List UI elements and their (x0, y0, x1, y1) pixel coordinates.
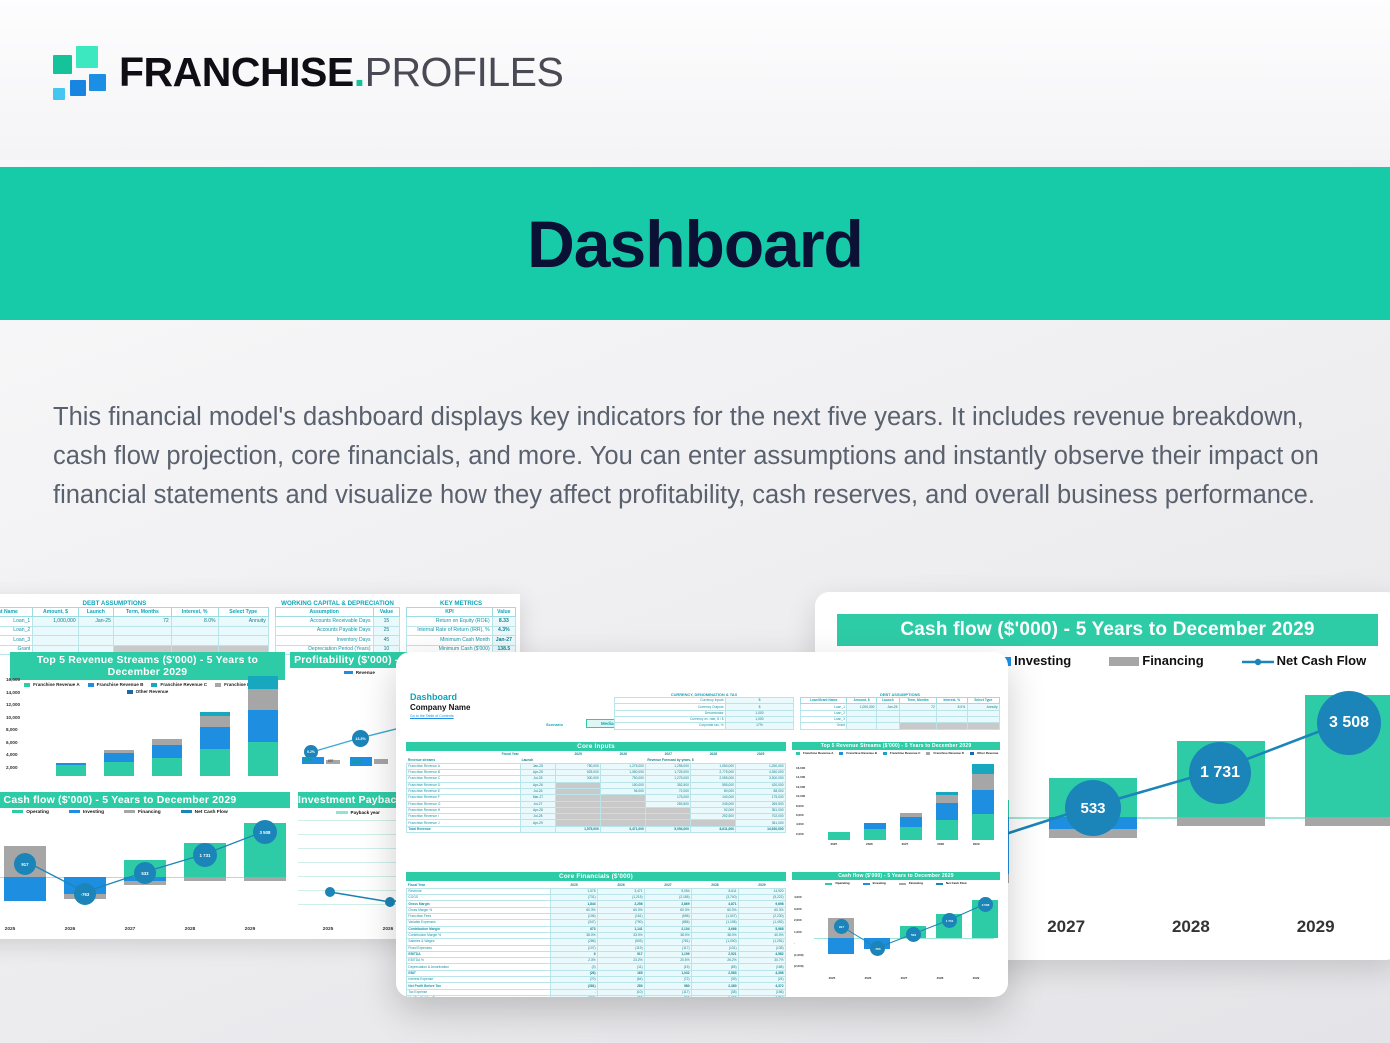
left-cashflow-plot: 917 -763 533 1 731 3 508 (0, 814, 280, 922)
company-name: Company Name (410, 703, 470, 712)
bubble-2028: 1 731 (1189, 742, 1251, 804)
debt-assumptions-table[interactable]: DEBT ASSUMPTIONS Loan/Grant NameAmount, … (0, 600, 269, 655)
working-capital-table[interactable]: WORKING CAPITAL & DEPRECIATION Assumptio… (275, 600, 400, 655)
working-capital-title: WORKING CAPITAL & DEPRECIATION (275, 600, 400, 607)
table-row: Accounts Receivable Days15 (275, 617, 399, 626)
legend-financing: Financing (1109, 653, 1203, 668)
key-metrics-title: KEY METRICS (406, 600, 516, 607)
center-cashflow-title: Cash flow ($'000) - 5 Years to December … (792, 872, 1000, 880)
right-cashflow-title: Cash flow ($'000) - 5 Years to December … (837, 614, 1378, 646)
debt-assumptions-title: DEBT ASSUMPTIONS (0, 600, 269, 607)
title-banner: Dashboard (0, 167, 1390, 320)
top5-yaxis: 16,00014,000 12,00010,000 8,0006,000 4,0… (6, 674, 20, 774)
center-cashflow-legend: Operating Investing Financing Net Cash F… (792, 881, 1000, 885)
page-header: FRANCHISE.PROFILES (0, 0, 1390, 160)
page-description: This financial model's dashboard display… (53, 398, 1338, 514)
center-top5-title: Top 5 Revenue Streams ($'000) - 5 Years … (792, 742, 1000, 750)
bubble-center-cf-2025: 917 (834, 919, 849, 934)
center-panel-header: Dashboard Company Name Go to the Table o… (410, 692, 470, 718)
left-cashflow-title: Cash flow ($'000) - 5 Years to December … (0, 792, 290, 808)
currency-table[interactable]: CURRENCY, DENOMINATION & TAX Currency In… (614, 692, 794, 730)
bubble-2027: 533 (1065, 780, 1121, 836)
bubble-center-cf-2029: 3 508 (978, 897, 993, 912)
table-row: Total Revenue1,575,0003,471,0005,054,000… (407, 826, 786, 832)
dashboard-floating-panel: Dashboard Company Name Go to the Table o… (396, 652, 1008, 997)
center-cashflow-plot: 917 -763 533 1 731 3 508 (814, 892, 994, 972)
center-cashflow-yaxis: 4,0003,000 2,0001,000 -(1,000) (2,000) (794, 892, 804, 973)
bubble-ebitda-pct-2026: 13.3% (352, 730, 369, 747)
bubble-cf-2026: -763 (74, 883, 96, 905)
brand-name-light: PROFILES (365, 49, 564, 95)
legend-net-cash-flow: Net Cash Flow (1242, 653, 1367, 668)
table-row: Net Profit After Tax(381)2598331,9593,71… (407, 996, 786, 998)
xlabel-2028: 2028 (1129, 917, 1254, 937)
toc-link[interactable]: Go to the Table of Contents (410, 714, 470, 718)
table-row: Corporate tax, %17% (615, 723, 794, 729)
center-top5-plot (816, 764, 994, 840)
brand-name-bold: FRANCHISE (119, 49, 354, 95)
center-panel-title: Dashboard (410, 692, 470, 702)
top5-plot (40, 674, 280, 776)
brand-name-dot: . (354, 49, 365, 95)
scenario-label: Scenario (546, 722, 563, 727)
core-financials-title: Core Financials ($'000) (406, 872, 786, 881)
bubble-cf-2025: 917 (14, 853, 36, 875)
table-row: Grant (801, 723, 1000, 729)
bubble-cf-2028: 1 731 (193, 843, 217, 867)
table-row: Loan_3 (0, 636, 268, 645)
table-row: Return on Equity (ROE)8.33 (407, 617, 516, 626)
table-row: Loan_2 (0, 626, 268, 635)
left-cashflow-xaxis: 2025 2026 2027 2028 2029 (0, 927, 280, 932)
center-top5-xaxis: 2025 2026 2027 2028 2029 (816, 842, 994, 846)
table-row: Minimum Cash MonthJan-27 (407, 636, 516, 645)
xlabel-2029: 2029 (1253, 917, 1378, 937)
table-row: Internal Rate of Return (IRR), %4.3% (407, 626, 516, 635)
left-numbers-sliver: 2029 1,250,000 4,350,000 3,300,000 420,0… (0, 698, 2, 801)
key-metrics-table: KEY METRICS KPIValue Return on Equity (R… (406, 600, 516, 655)
bubble-center-cf-2028: 1 731 (942, 913, 957, 928)
center-top5-yaxis: 16,00014,000 12,00010,000 8,0006,000 4,0… (796, 764, 805, 839)
table-row: Accounts Payable Days25 (275, 626, 399, 635)
page-title: Dashboard (527, 206, 863, 282)
revenue-streams-table[interactable]: Fiscal Year 2025 2026 2027 2028 2029 Rev… (406, 752, 786, 833)
bubble-center-cf-2027: 533 (906, 927, 921, 942)
table-row: Inventory Days45 (275, 636, 399, 645)
center-cashflow-xaxis: 2025 2026 2027 2028 2029 (814, 976, 994, 980)
center-debt-table[interactable]: DEBT ASSUMPTIONS Loan/Grant NameAmount, … (800, 692, 1000, 730)
bubble-2029: 3 508 (1317, 691, 1381, 755)
brand-logo: FRANCHISE.PROFILES (53, 44, 563, 100)
xlabel-2027: 2027 (1004, 917, 1129, 937)
brand-wordmark: FRANCHISE.PROFILES (119, 52, 563, 93)
bubble-cf-2027: 533 (134, 862, 156, 884)
logo-squares-icon (53, 44, 105, 100)
table-row: Loan_11,000,000Jan-25728.0%Annuity (0, 617, 268, 626)
bubble-center-cf-2026: -763 (870, 941, 885, 956)
core-inputs-title: Core Inputs (406, 742, 786, 751)
bubble-cf-2029: 3 508 (253, 820, 277, 844)
core-financials-block: Core Financials ($'000) Fiscal Year 2025… (406, 872, 786, 997)
center-top5-legend: Franchise Revenue A Franchise Revenue B … (792, 751, 1000, 755)
